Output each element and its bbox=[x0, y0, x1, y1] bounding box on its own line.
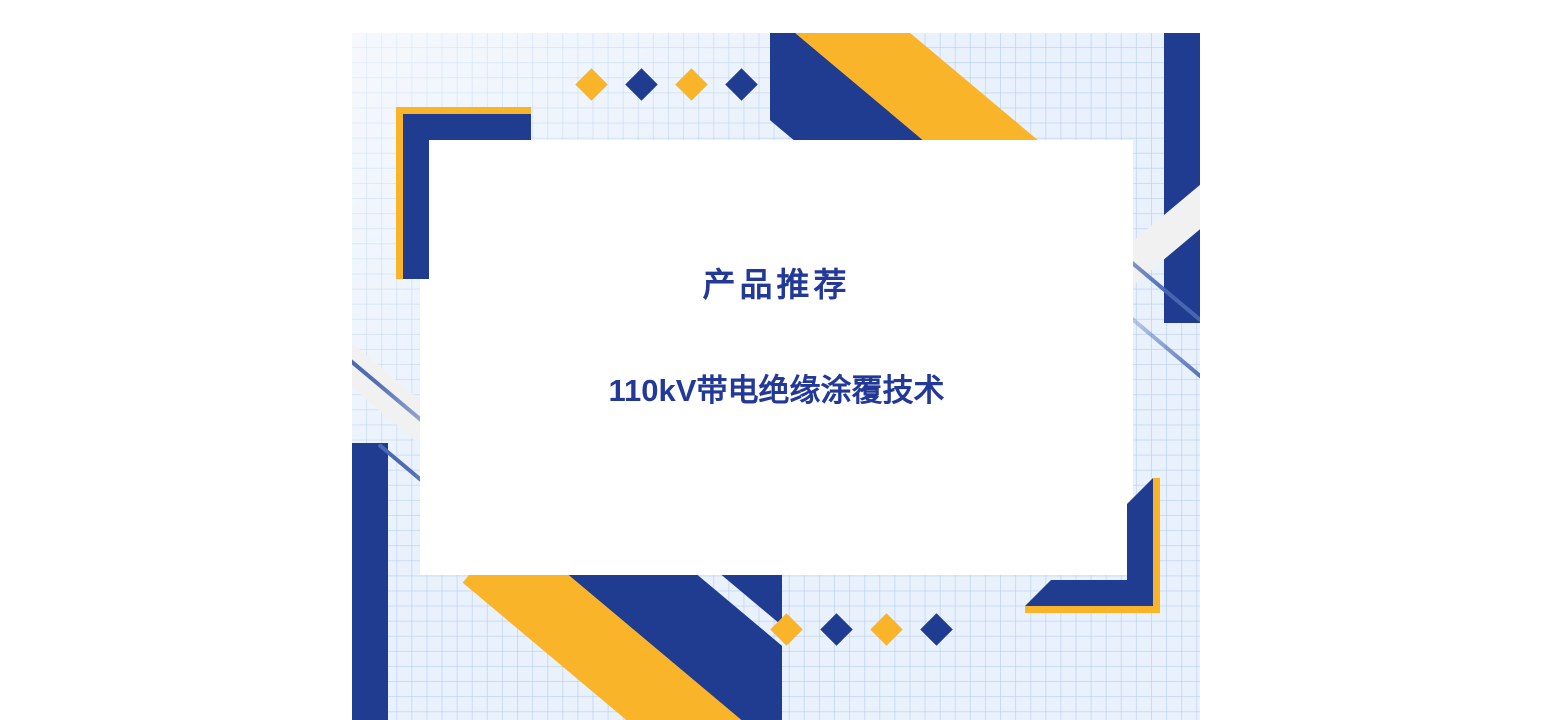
slide-subtitle: 110kV带电绝缘涂覆技术 bbox=[420, 372, 1133, 409]
edge-bar-bottom-left bbox=[352, 443, 388, 720]
bracket-orange-vertical bbox=[1153, 478, 1160, 613]
bracket-blue-vertical bbox=[403, 114, 429, 279]
diamond-row-bottom bbox=[775, 618, 948, 641]
bracket-blue-vertical bbox=[1127, 478, 1153, 606]
presentation-slide: 产品推荐 110kV带电绝缘涂覆技术 bbox=[352, 33, 1200, 720]
corner-bracket-top-left bbox=[396, 107, 536, 287]
diamond-icon bbox=[625, 68, 658, 101]
bracket-orange-vertical bbox=[396, 107, 403, 279]
diamond-icon bbox=[575, 68, 608, 101]
slide-title: 产品推荐 bbox=[420, 265, 1133, 305]
bracket-orange-horizontal bbox=[396, 107, 531, 114]
corner-bracket-bottom-right bbox=[1020, 473, 1160, 613]
diamond-icon bbox=[725, 68, 758, 101]
diamond-icon bbox=[920, 613, 953, 646]
screenshot-canvas: 产品推荐 110kV带电绝缘涂覆技术 bbox=[0, 0, 1552, 720]
diamond-row-top bbox=[580, 73, 753, 96]
diamond-icon bbox=[675, 68, 708, 101]
diamond-icon bbox=[770, 613, 803, 646]
edge-bar-top-right bbox=[1164, 33, 1200, 323]
diamond-icon bbox=[820, 613, 853, 646]
diamond-icon bbox=[870, 613, 903, 646]
bracket-orange-horizontal bbox=[1025, 606, 1160, 613]
